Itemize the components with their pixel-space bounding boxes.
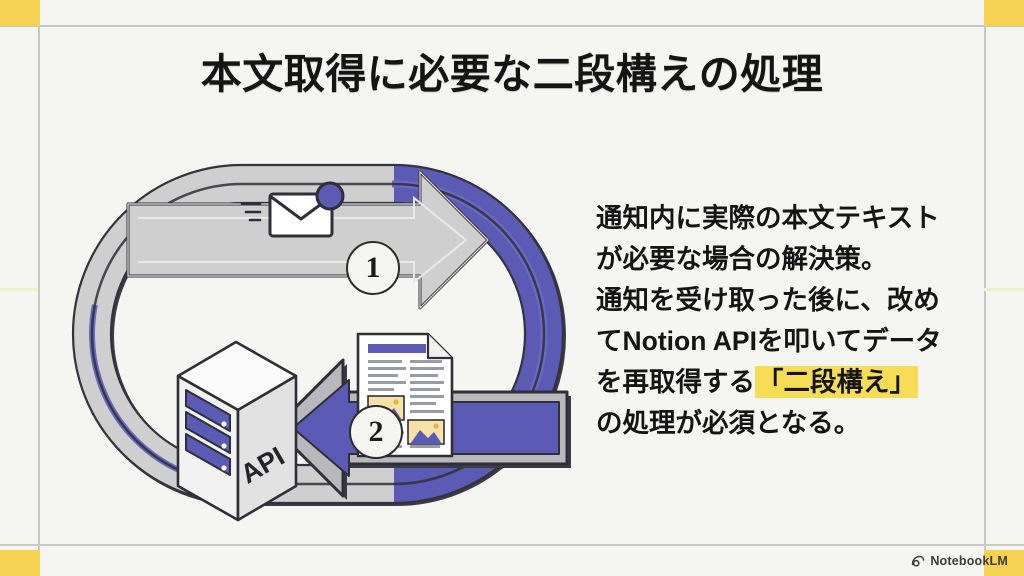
description-line-1: 通知内に実際の本文テキスト [596,198,972,239]
corner-marker-top-left [0,0,40,26]
guide-line-horizontal-top [0,25,1024,27]
corner-marker-bottom-left [0,550,40,576]
notebooklm-logo-icon [911,554,925,568]
guide-line-horizontal-bottom [0,544,1024,546]
process-loop-diagram: API [60,110,600,530]
notebooklm-watermark: NotebookLM [911,554,1008,568]
description-line-4: てNotion APIを叩いてデータ [596,321,972,362]
page-title: 本文取得に必要な二段構えの処理 [0,40,1024,100]
notebooklm-label: NotebookLM [930,554,1008,568]
description-line-5-text: を再取得する [596,367,755,397]
description-line-5: を再取得する「二段構え」 [596,362,972,403]
slide-canvas: 本文取得に必要な二段構えの処理 [0,0,1024,576]
description-line-2: が必要な場合の解決策。 [596,239,972,280]
description-text: 通知内に実際の本文テキスト が必要な場合の解決策。 通知を受け取った後に、改め … [596,198,972,444]
corner-marker-top-right [984,0,1024,26]
guide-tick-left [0,288,38,291]
description-line-6: の処理が必須となる。 [596,403,972,444]
step-number-1: 1 [346,241,400,295]
highlighted-phrase: 「二段構え」 [755,366,918,398]
description-line-3: 通知を受け取った後に、改め [596,280,972,321]
api-server-icon: API [178,342,296,520]
guide-tick-right [984,288,1024,291]
document-image-2 [408,420,444,444]
step-number-2: 2 [349,405,403,459]
